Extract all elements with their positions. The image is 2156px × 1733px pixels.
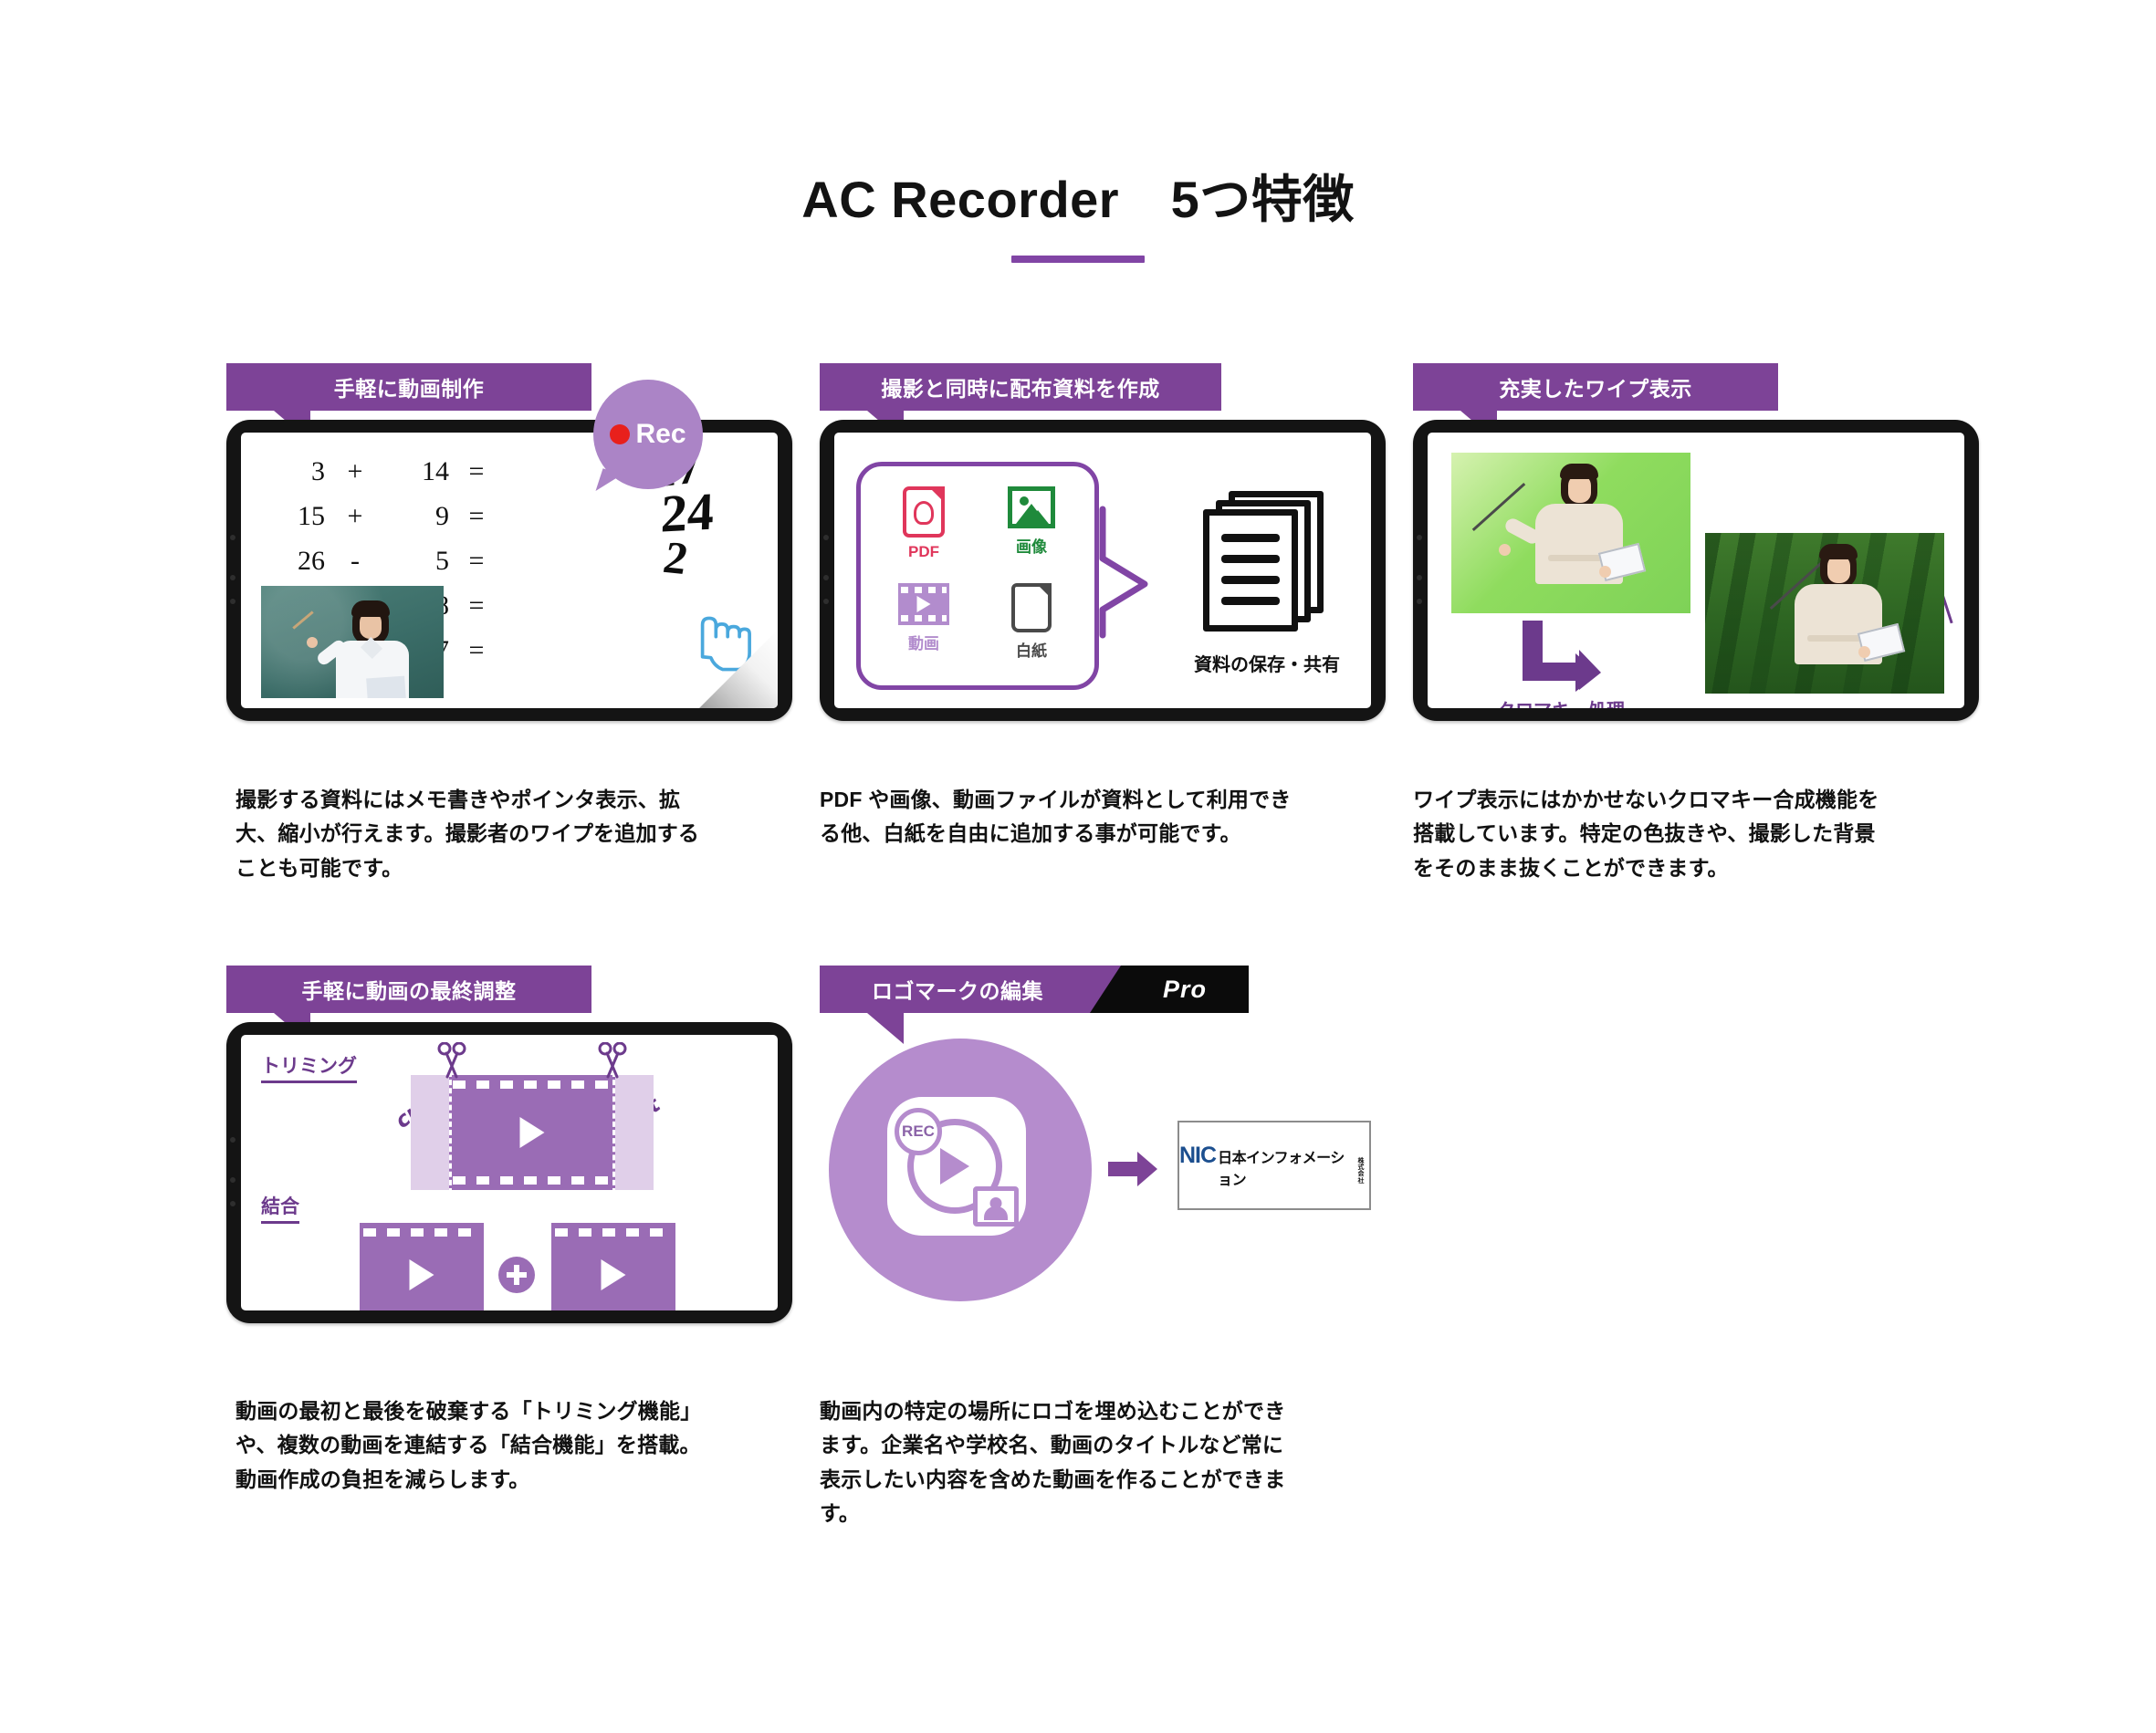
source-file-image: 画像: [978, 479, 1085, 576]
card-3-caption: ワイプ表示にはかかせないクロマキー合成機能を搭載しています。特定の色抜きや、撮影…: [1413, 783, 1888, 885]
card-4-banner-label: 手軽に動画の最終調整: [226, 966, 591, 1013]
right-arrow-icon: [1108, 1152, 1157, 1186]
card-1-banner: 手軽に動画制作: [226, 363, 792, 411]
trimming-section-title: トリミング: [261, 1051, 357, 1083]
tablet-button-icon: [230, 1177, 235, 1183]
card-5-caption: 動画内の特定の場所にロゴを埋め込むことができます。企業名や学校名、動画のタイトル…: [820, 1394, 1294, 1530]
presenter-wipe-photo: [261, 586, 444, 698]
tablet-screen-4: トリミング cut cut: [241, 1035, 778, 1310]
page-title: AC Recorder 5つ特徴: [0, 172, 2156, 228]
card-2-caption: PDF や画像、動画ファイルが資料として利用できる他、白紙を自由に追加する事が可…: [820, 783, 1294, 851]
tablet-button-icon: [230, 599, 235, 604]
cut-line-right: [612, 1071, 615, 1194]
play-triangle-icon: [940, 1148, 969, 1185]
pro-badge: Pro: [1121, 966, 1249, 1013]
source-label: 動画: [908, 631, 939, 653]
operand-b: 14: [385, 456, 449, 487]
source-label: PDF: [908, 543, 939, 561]
paper-shape: [366, 676, 406, 698]
equals-sign: =: [449, 546, 504, 577]
chroma-key-arrow-icon: [1515, 621, 1603, 692]
card-1-banner-label: 手軽に動画制作: [226, 363, 591, 411]
person-wipe-icon: [973, 1186, 1019, 1227]
virtual-background-photo: [1705, 533, 1944, 694]
source-file-movie: 動画: [870, 576, 978, 673]
green-screen-photo: [1451, 453, 1690, 613]
tablet-device-3: クロマキー処理 バーチャル背景でイメージアップ: [1413, 420, 1979, 721]
operator: +: [325, 501, 385, 532]
feature-card-4: 手軽に動画の最終調整 トリミング cut cut: [226, 966, 792, 1323]
nic-company-name: 日本インフォメーション: [1218, 1145, 1355, 1189]
page-header: AC Recorder 5つ特徴: [0, 172, 2156, 263]
output-label: 資料の保存・共有: [1194, 650, 1340, 676]
equals-sign: =: [449, 635, 504, 666]
source-file-pdf: PDF: [870, 479, 978, 576]
cut-line-left: [449, 1071, 452, 1194]
equals-sign: =: [449, 590, 504, 621]
operand-a: 3: [265, 456, 325, 487]
hair-shape: [1560, 464, 1598, 479]
company-logo-box: NIC 日本インフォメーション 株式 会社: [1177, 1121, 1371, 1210]
tablet-device-1: 3 + 14 = 15 + 9 = 26 - 5: [226, 420, 792, 721]
feature-card-1: 手軽に動画制作 3 + 14 = 15 + 9: [226, 363, 792, 721]
hand-shape: [1858, 646, 1870, 658]
title-underline: [1011, 256, 1145, 263]
card-2-banner: 撮影と同時に配布資料を作成: [820, 363, 1386, 411]
document-page: [1203, 509, 1298, 632]
film-strip-a: [360, 1223, 484, 1310]
operand-a: 26: [265, 546, 325, 577]
ac-recorder-app-icon: REC: [887, 1097, 1026, 1236]
chroma-key-label: クロマキー処理: [1497, 695, 1625, 708]
feature-card-5: ロゴマークの編集 Pro REC: [820, 966, 1386, 1309]
source-files-group: PDF 画像 動画: [856, 462, 1099, 690]
source-label: 画像: [1016, 534, 1047, 557]
logo-edit-illustration: REC NIC 日本インフォメーション 株式 会社: [820, 1035, 1386, 1309]
record-dot-icon: [610, 424, 630, 444]
pointer-stick-icon: [292, 611, 313, 629]
tablet-button-icon: [1417, 599, 1422, 604]
movie-file-icon: [898, 583, 949, 625]
operator: +: [325, 456, 385, 487]
rec-bubble-icon: REC: [895, 1108, 942, 1155]
equals-sign: =: [449, 456, 504, 487]
tablet-button-icon: [1417, 575, 1422, 580]
equals-sign: =: [449, 501, 504, 532]
source-label: 白紙: [1016, 638, 1047, 661]
tablet-screen-3: クロマキー処理 バーチャル背景でイメージアップ: [1428, 433, 1964, 708]
hand-shape: [307, 637, 318, 648]
source-file-blank: 白紙: [978, 576, 1085, 673]
image-file-icon: [1008, 486, 1055, 528]
tablet-button-icon: [230, 1201, 235, 1206]
nic-logo: NIC 日本インフォメーション 株式 会社: [1179, 1143, 1369, 1189]
card-4-banner: 手軽に動画の最終調整: [226, 966, 792, 1013]
tablet-button-icon: [823, 575, 829, 580]
film-strip-kept: [449, 1075, 615, 1190]
document-stack-icon: [1196, 491, 1324, 637]
tablet-button-icon: [823, 599, 829, 604]
feature-card-2: 撮影と同時に配布資料を作成 PDF: [820, 363, 1386, 721]
operand-b: 5: [385, 546, 449, 577]
feature-card-3: 充実したワイプ表示: [1413, 363, 1979, 721]
hand-shape: [1599, 566, 1611, 578]
joining-section-title: 結合: [261, 1192, 299, 1224]
math-row: 15 + 9 =: [265, 494, 657, 538]
scissors-icon: [597, 1042, 628, 1081]
card-1-caption: 撮影する資料にはメモ書きやポインタ表示、拡大、縮小が行えます。撮影者のワイプを追…: [235, 783, 710, 885]
trimming-illustration: [449, 1075, 615, 1190]
hair-shape: [1819, 544, 1858, 559]
operand-b: 9: [385, 501, 449, 532]
card-5-banner-label: ロゴマークの編集: [820, 966, 1121, 1013]
scissors-icon: [436, 1042, 467, 1081]
tablet-button-icon: [1417, 535, 1422, 540]
operand-a: 15: [265, 501, 325, 532]
tablet-button-icon: [230, 535, 235, 540]
tablet-device-4: トリミング cut cut: [226, 1022, 792, 1323]
chevron-right-arrow-icon: [1097, 504, 1156, 641]
nic-kk-suffix: 株式 会社: [1358, 1158, 1370, 1185]
tablet-button-icon: [823, 535, 829, 540]
tablet-device-2: PDF 画像 動画: [820, 420, 1386, 721]
card-3-banner: 充実したワイプ表示: [1413, 363, 1979, 411]
tablet-button-icon: [230, 1137, 235, 1143]
card-4-caption: 動画の最初と最後を破棄する「トリミング機能」や、複数の動画を連結する「結合機能」…: [235, 1394, 710, 1497]
tablet-screen-2: PDF 画像 動画: [834, 433, 1371, 708]
nic-mark: NIC: [1179, 1143, 1216, 1169]
plus-icon: [498, 1257, 535, 1293]
feature-overview-page: AC Recorder 5つ特徴 手軽に動画制作 3 + 14 =: [0, 0, 2156, 1733]
pro-badge-label: Pro: [1163, 976, 1207, 1004]
card-2-banner-label: 撮影と同時に配布資料を作成: [820, 363, 1221, 411]
film-strip-b: [551, 1223, 675, 1310]
blank-page-icon: [1011, 583, 1052, 632]
hand-shape: [1499, 544, 1511, 556]
pdf-file-icon: [903, 486, 945, 538]
hair-shape: [351, 600, 390, 617]
card-3-banner-label: 充実したワイプ表示: [1413, 363, 1778, 411]
rec-label: REC: [902, 1122, 935, 1141]
operator: -: [325, 546, 385, 577]
rec-badge: Rec: [593, 380, 703, 489]
rec-badge-label: Rec: [635, 419, 686, 450]
card-5-banner: ロゴマークの編集 Pro: [820, 966, 1386, 1013]
math-row: 26 - 5 =: [265, 538, 657, 583]
tablet-button-icon: [230, 575, 235, 580]
